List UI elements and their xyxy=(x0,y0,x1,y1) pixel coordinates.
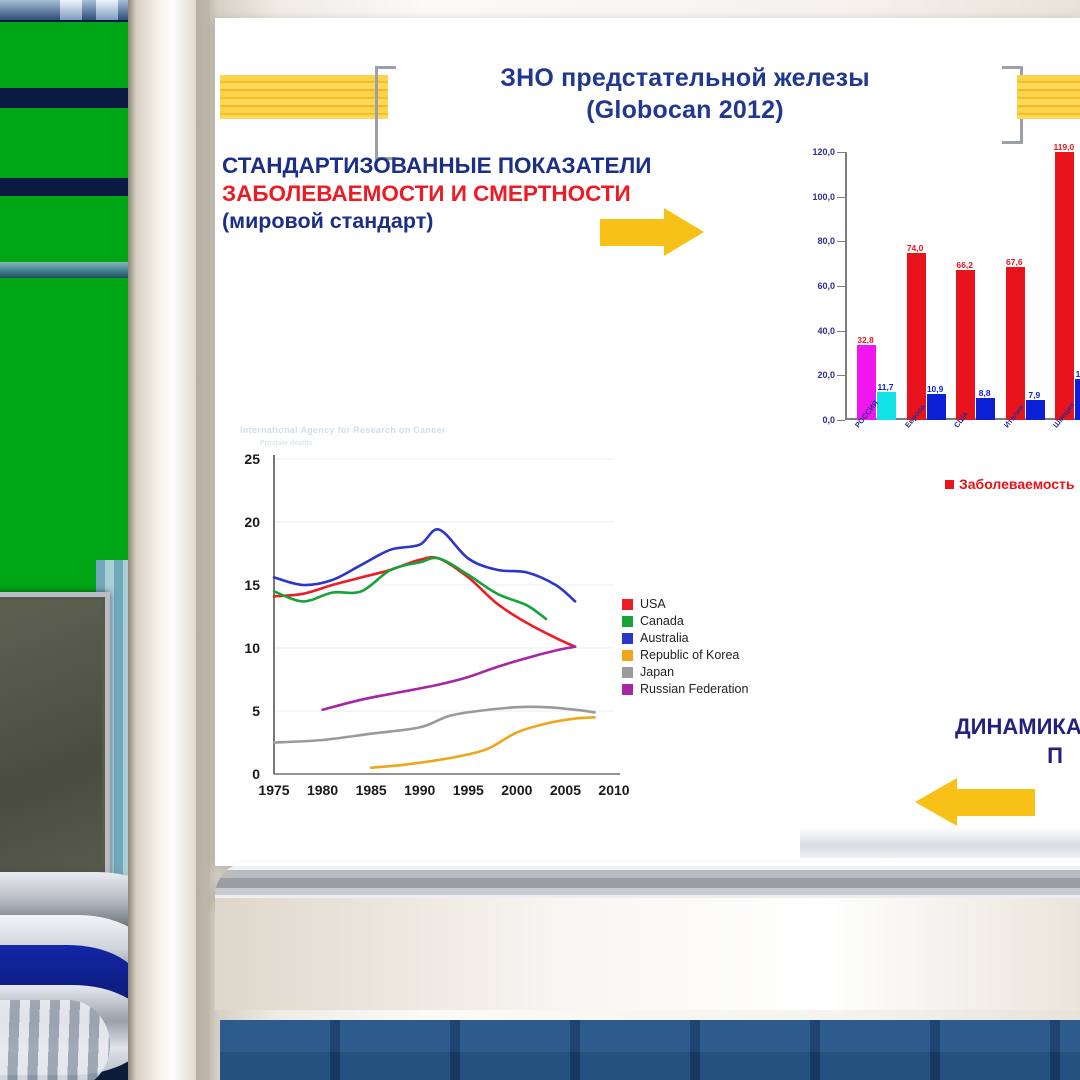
line-chart-legend-item: USA xyxy=(622,597,748,611)
legend-swatch-incidence xyxy=(945,480,954,489)
wall-light-strip xyxy=(0,262,132,278)
bar-value-label-incidence: 67,6 xyxy=(1006,257,1023,267)
bar-chart-y-tick-label: 0,0 xyxy=(795,415,835,425)
studio-monitor xyxy=(0,592,110,902)
line-chart-prostate-mortality-trends: International Agency for Research on Can… xyxy=(232,425,792,825)
bar-chart-y-tick-label: 20,0 xyxy=(795,370,835,380)
bar-value-label-incidence: 66,2 xyxy=(956,260,973,270)
arrow-right-shaft xyxy=(600,219,668,246)
bar-chart-y-tick-label: 120,0 xyxy=(795,147,835,157)
legend-label: Republic of Korea xyxy=(640,648,739,662)
subheading-line-standardized: СТАНДАРТИЗОВАННЫЕ ПОКАЗАТЕЛИ xyxy=(222,152,692,180)
line-chart-legend-item: Russian Federation xyxy=(622,682,748,696)
arrow-left-head xyxy=(915,778,957,826)
bar-chart-y-tick-label: 60,0 xyxy=(795,281,835,291)
line-chart-subtitle: Prostate deaths xyxy=(260,440,313,447)
studio-floor-lower xyxy=(220,1052,1080,1080)
presentation-slide: ЗНО предстательной железы (Globocan 2012… xyxy=(215,18,1080,866)
bracket-left-icon xyxy=(375,66,396,160)
bar-mortality xyxy=(927,394,946,420)
bar-chart-y-tick-label: 100,0 xyxy=(795,192,835,202)
bar-mortality xyxy=(976,398,995,420)
line-chart-legend-item: Canada xyxy=(622,614,748,628)
bar-value-label-incidence: 32,8 xyxy=(857,335,874,345)
line-series-australia xyxy=(274,529,575,601)
line-series-republic-of-korea xyxy=(371,717,594,767)
arrow-right-icon xyxy=(600,208,706,256)
line-chart-svg xyxy=(232,449,652,819)
legend-swatch xyxy=(622,633,633,644)
ceiling-tile xyxy=(96,0,118,20)
wall-band-mid1 xyxy=(0,88,132,108)
bar-chart-incidence-mortality: 0,020,040,060,080,0100,0120,0 32,811,774… xyxy=(795,146,1080,506)
legend-label: Canada xyxy=(640,614,684,628)
bar-chart-y-tick xyxy=(837,286,845,287)
line-chart-legend: USACanadaAustraliaRepublic of KoreaJapan… xyxy=(622,597,748,699)
bar-value-label-mortality: 11,7 xyxy=(877,382,893,392)
bar-chart-y-tick xyxy=(837,152,845,153)
legend-label: Australia xyxy=(640,631,689,645)
bar-incidence xyxy=(956,270,975,420)
bar-value-label-mortality: 10,9 xyxy=(927,384,944,394)
wall-band-mid2 xyxy=(0,178,132,196)
legend-swatch xyxy=(622,650,633,661)
line-chart-legend-item: Republic of Korea xyxy=(622,648,748,662)
slide-surface: ЗНО предстательной железы (Globocan 2012… xyxy=(215,18,1080,866)
slide-title: ЗНО предстательной железы (Globocan 2012… xyxy=(470,62,900,126)
slide-bottom-bevel xyxy=(215,862,1080,900)
bar-chart-legend: Заболеваемость xyxy=(945,476,1075,492)
line-chart-source-title: International Agency for Research on Can… xyxy=(240,425,446,435)
legend-swatch xyxy=(622,684,633,695)
bar-incidence xyxy=(1055,152,1074,420)
bar-value-label-incidence: 74,0 xyxy=(907,243,924,253)
bar-incidence xyxy=(1006,267,1025,420)
slide-under-surface xyxy=(215,898,1080,1010)
decor-bar-right xyxy=(1017,75,1080,119)
legend-label: Japan xyxy=(640,665,674,679)
line-chart-legend-item: Australia xyxy=(622,631,748,645)
bar-chart-y-tick xyxy=(837,197,845,198)
bar-value-label-mortality: 8,8 xyxy=(979,388,991,398)
legend-swatch xyxy=(622,599,633,610)
bar-incidence xyxy=(907,253,926,420)
subheading-line-morbidity: ЗАБОЛЕВАЕМОСТИ И СМЕРТНОСТИ xyxy=(222,180,692,208)
arrow-left-shaft xyxy=(955,789,1035,816)
bar-chart-y-tick xyxy=(837,420,845,421)
legend-swatch xyxy=(622,616,633,627)
bar-mortality xyxy=(1026,400,1045,420)
legend-label: USA xyxy=(640,597,666,611)
slide-title-line2: (Globocan 2012) xyxy=(470,94,900,126)
bar-value-label-mortality: 7,9 xyxy=(1028,390,1040,400)
ceiling-tile xyxy=(60,0,82,20)
legend-swatch xyxy=(622,667,633,678)
bar-chart-plot-area: 32,811,774,010,966,28,867,67,9119,017,5 xyxy=(847,152,1080,420)
slide-title-line1: ЗНО предстательной железы xyxy=(470,62,900,94)
slide-footer-box xyxy=(800,828,1080,858)
arrow-right-head xyxy=(664,208,704,256)
legend-label: Russian Federation xyxy=(640,682,748,696)
monitor-screen xyxy=(0,600,102,894)
bar-chart-y-tick xyxy=(837,375,845,376)
dynamics-line1: ДИНАМИКА xyxy=(955,713,1080,742)
bar-mortality xyxy=(1075,379,1080,420)
bar-value-label-incidence: 119,0 xyxy=(1053,142,1074,152)
decor-bar-left xyxy=(220,75,388,119)
dynamics-line2: П xyxy=(955,742,1080,771)
line-chart-legend-item: Japan xyxy=(622,665,748,679)
line-series-russian-federation xyxy=(323,647,575,710)
desk-fan-detail xyxy=(0,1000,110,1080)
bar-mortality xyxy=(877,392,896,420)
bar-value-label-mortality: 17,5 xyxy=(1076,369,1080,379)
bar-chart-y-tick xyxy=(837,241,845,242)
bar-chart-y-tick xyxy=(837,331,845,332)
dynamics-caption: ДИНАМИКА П xyxy=(955,713,1080,770)
bar-chart-y-tick-label: 80,0 xyxy=(795,236,835,246)
arrow-left-icon xyxy=(915,778,1040,826)
screenshot-stage: ЗНО предстательной железы (Globocan 2012… xyxy=(0,0,1080,1080)
line-series-usa xyxy=(274,557,575,647)
bar-chart-y-tick-label: 40,0 xyxy=(795,326,835,336)
legend-label-incidence: Заболеваемость xyxy=(959,476,1075,492)
